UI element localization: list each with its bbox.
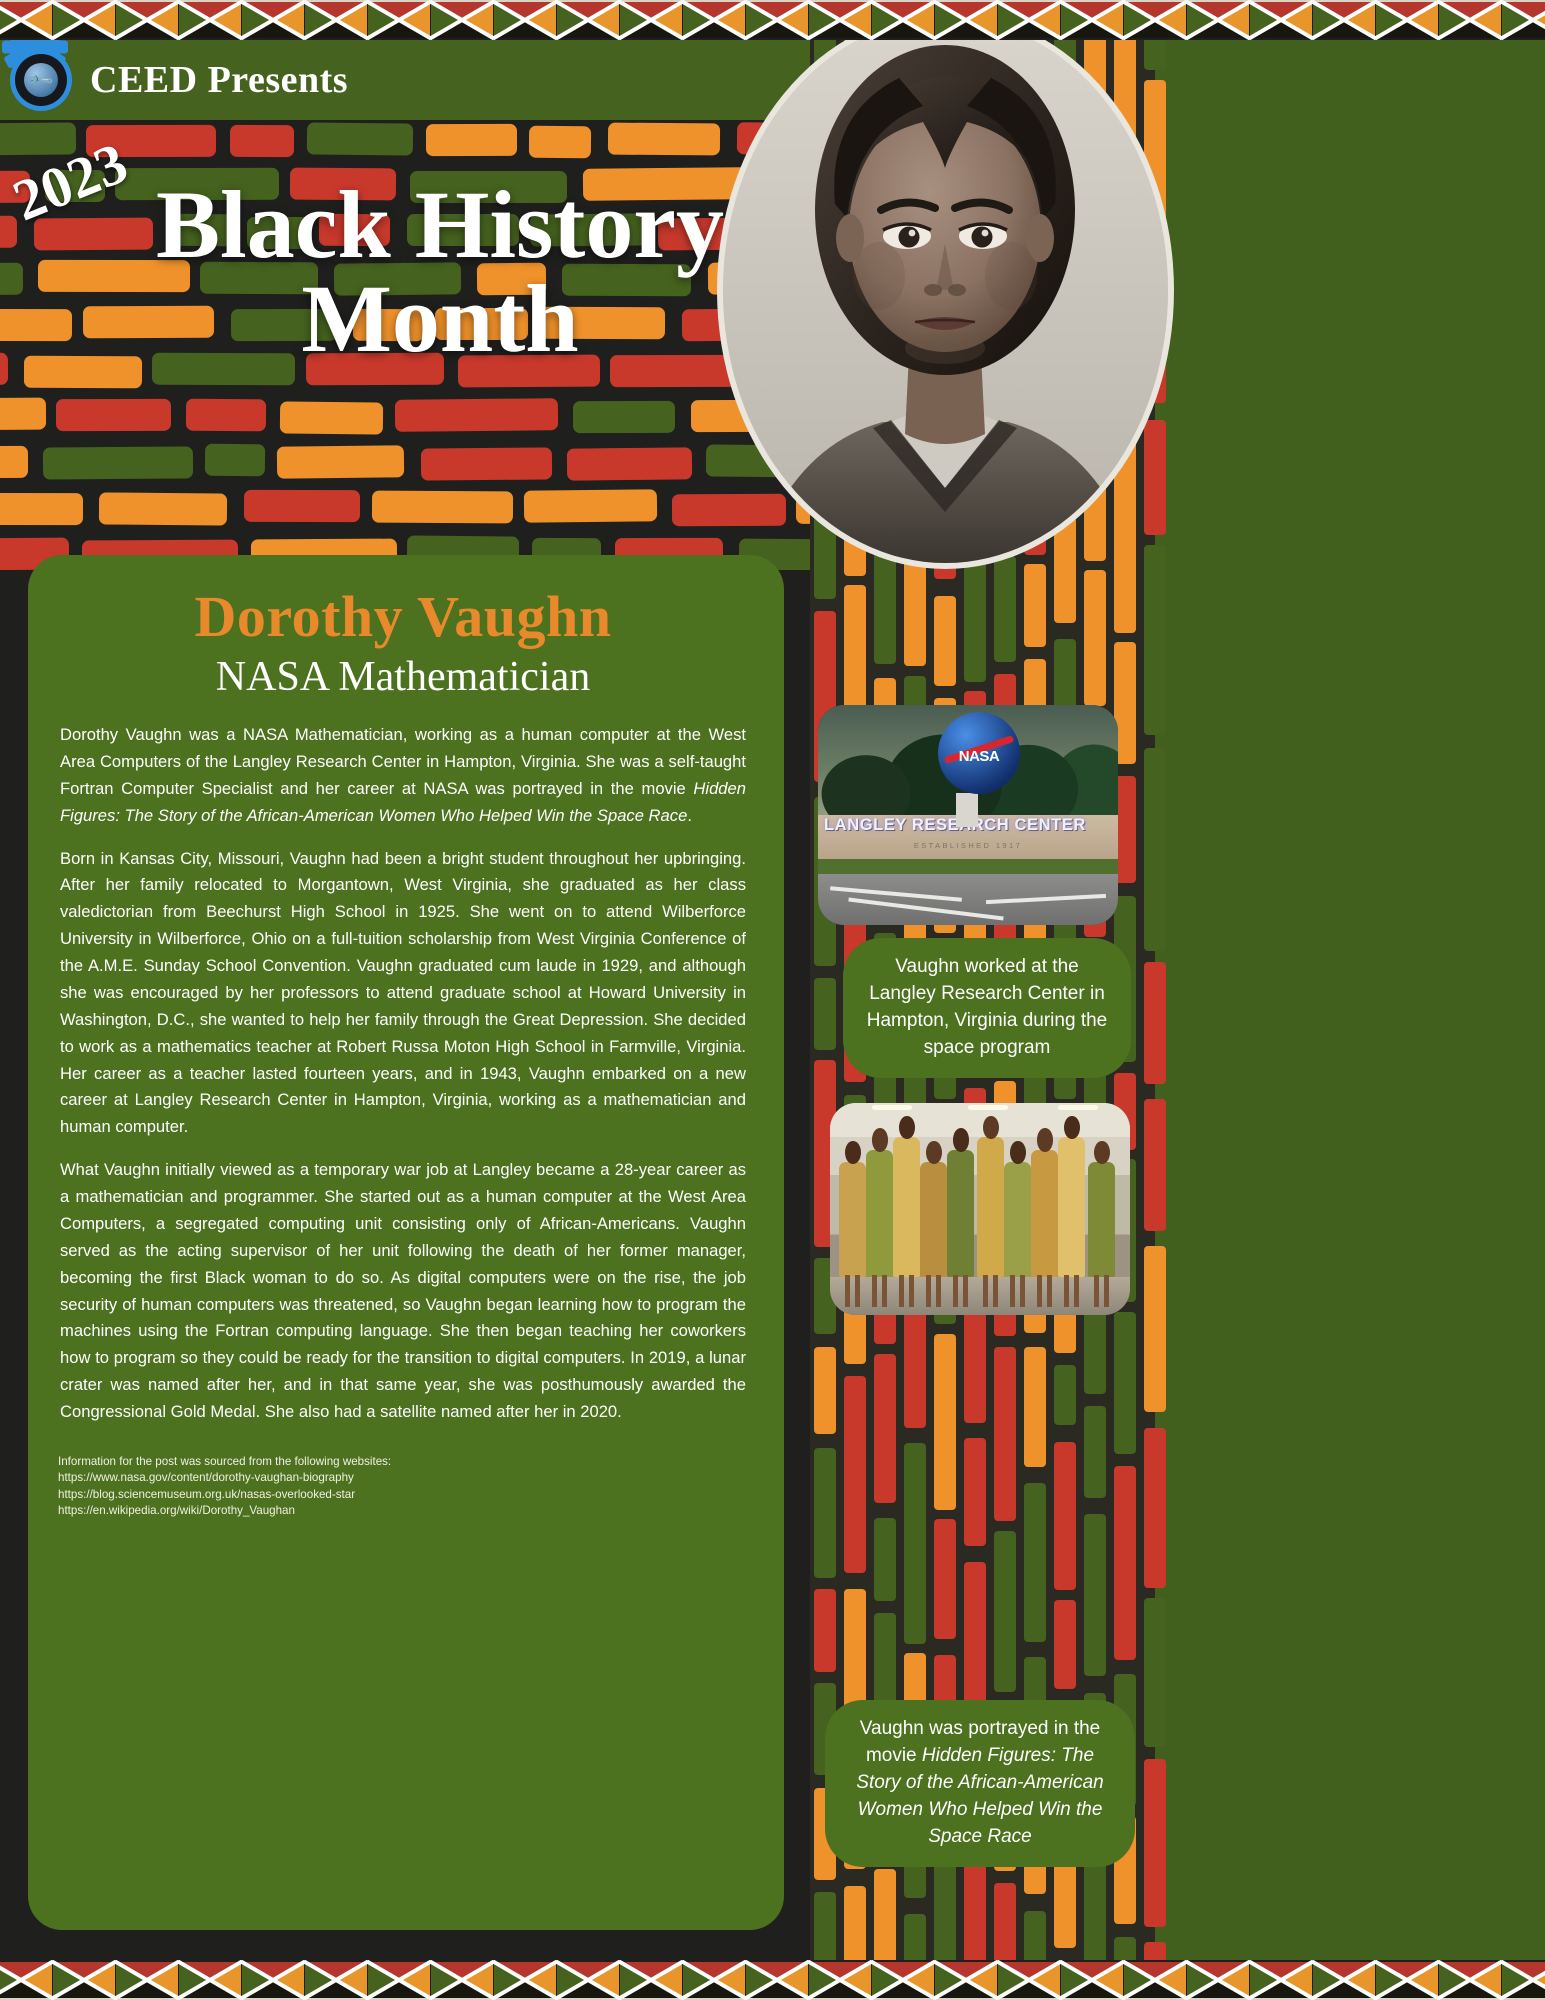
kente-diamond-cell: [1124, 1962, 1186, 1998]
kente-diamond-cell: [1502, 1962, 1545, 1998]
brick-tile: [99, 492, 227, 525]
kente-cross-lines: [746, 1962, 808, 1998]
movie-figure-legs: [963, 1275, 968, 1307]
movie-figure: [1004, 1162, 1031, 1276]
kente-cross-lines: [179, 1962, 241, 1998]
sidebar-stripe-tile: [1144, 420, 1166, 535]
poster-canvas: 🔧 CEED Presents 2023 Black History Month: [0, 0, 1545, 2000]
kente-cross-lines: [1124, 1962, 1186, 1998]
movie-figure-head: [872, 1128, 888, 1151]
sidebar-stripe-tile: [1054, 1442, 1076, 1590]
brick-tile: [56, 399, 171, 431]
kente-diamond-cell: [1439, 1962, 1501, 1998]
brick-tile: [0, 446, 28, 478]
sidebar-stripe-tile: [814, 1589, 836, 1672]
movie-figure-legs: [953, 1275, 958, 1307]
kente-diamond-cell: [1187, 1962, 1249, 1998]
sidebar-stripe-tile: [814, 978, 836, 1050]
para-1: Dorothy Vaughn was a NASA Mathematician,…: [58, 722, 748, 830]
brick-tile: [573, 400, 675, 432]
kente-cross-lines: [305, 1962, 367, 1998]
kente-diamond-cell: [1313, 1962, 1375, 1998]
kente-diamond-cell: [1250, 1962, 1312, 1998]
movie-figure: [920, 1162, 947, 1276]
source-link[interactable]: https://blog.sciencemuseum.org.uk/nasas-…: [58, 1487, 748, 1503]
kente-cross-lines: [116, 1962, 178, 1998]
kente-diamond-cell: [431, 1962, 493, 1998]
person-name: Dorothy Vaughn: [58, 587, 748, 648]
sidebar-stripe-tile: [994, 1347, 1016, 1521]
kente-cross-lines: [998, 1962, 1060, 1998]
text-run: Dorothy Vaughn was a NASA Mathematician,…: [60, 725, 746, 798]
kente-border-bottom: [0, 1960, 1545, 2000]
movie-figure-head: [983, 1116, 999, 1139]
kente-diamond-cell: [746, 1962, 808, 1998]
movie-figure-legs: [926, 1275, 931, 1307]
kente-cross-lines: [1502, 2, 1545, 38]
kente-diamond-cell: [683, 1962, 745, 1998]
person-role: NASA Mathematician: [58, 654, 748, 700]
kente-diamond-cell: [1187, 2, 1249, 38]
kente-cross-lines: [1313, 1962, 1375, 1998]
brick-tile: [395, 398, 558, 432]
brick-tile: [186, 398, 266, 431]
kente-diamond-cell: [116, 1962, 178, 1998]
movie-figure-legs: [983, 1275, 988, 1307]
kente-diamond-cell: [1124, 2, 1186, 38]
sidebar-stripe-tile: [994, 556, 1016, 662]
kente-cross-lines: [53, 1962, 115, 1998]
brick-tile: [307, 123, 413, 156]
sidebar-stripe-tile: [1054, 1365, 1076, 1425]
kente-cross-lines: [1187, 2, 1249, 38]
kente-cross-lines: [0, 1962, 52, 1998]
kente-cross-lines: [683, 2, 745, 38]
kente-cross-lines: [809, 2, 871, 38]
nasa-globe-logo: NASA: [938, 712, 1020, 794]
kente-diamond-cell: [179, 2, 241, 38]
kente-diamond-cell: [53, 1962, 115, 1998]
kente-cross-lines: [1250, 1962, 1312, 1998]
brick-tile: [280, 401, 383, 434]
movie-figure-legs: [1094, 1275, 1099, 1307]
sidebar-stripe-tile: [1144, 748, 1166, 951]
sidebar-stripe-tile: [934, 1334, 956, 1510]
kente-cross-lines: [683, 1962, 745, 1998]
movie-figure: [893, 1137, 920, 1277]
kente-diamond-cell: [0, 1962, 52, 1998]
kente-cross-lines: [1187, 1962, 1249, 1998]
kente-diamond-cell: [368, 1962, 430, 1998]
kente-diamond-cell: [998, 2, 1060, 38]
logo-pedestal: [956, 793, 978, 827]
text-run: What Vaughn initially viewed as a tempor…: [60, 1160, 746, 1421]
sidebar-stripe-tile: [934, 596, 956, 686]
movie-figure: [866, 1150, 893, 1277]
page-title-line-2: Month: [100, 272, 780, 366]
kente-cross-lines: [557, 2, 619, 38]
sidebar-stripe-tile: [844, 1376, 866, 1573]
biography-panel: Dorothy Vaughn NASA Mathematician Doroth…: [28, 555, 784, 1930]
sidebar-stripe-tile: [1024, 1347, 1046, 1467]
brick-tile: [43, 447, 193, 480]
kente-cross-lines: [368, 2, 430, 38]
sidebar-stripe-tile: [1114, 1466, 1136, 1660]
sidebar-stripe-tile: [1084, 570, 1106, 706]
sidebar-stripe-tile: [1144, 1759, 1166, 1927]
kente-cross-lines: [242, 1962, 304, 1998]
sign-subtext: ESTABLISHED 1917: [818, 841, 1118, 850]
kente-diamond-cell: [620, 2, 682, 38]
movie-figure-head: [953, 1128, 969, 1151]
sidebar-stripe-tile: [1084, 1514, 1106, 1676]
movie-figure: [1058, 1137, 1085, 1277]
brick-tile: [230, 125, 294, 157]
movie-figure-head: [845, 1141, 861, 1164]
sidebar-stripe-tile: [904, 1443, 926, 1644]
kente-diamond-cell: [1502, 2, 1545, 38]
kente-diamond-cell: [305, 2, 367, 38]
kente-diamond-cell: [242, 1962, 304, 1998]
sidebar-stripe-tile: [874, 1354, 896, 1503]
grass-strip: [818, 859, 1118, 874]
kente-diamond-cell: [1376, 1962, 1438, 1998]
sidebar-stripe-tile: [964, 550, 986, 682]
kente-diamond-cell: [998, 1962, 1060, 1998]
movie-figure: [1088, 1162, 1115, 1276]
sidebar-stripe-tile: [1144, 962, 1166, 1084]
kente-diamond-cell: [1376, 2, 1438, 38]
kente-diamond-cell: [935, 1962, 997, 1998]
sidebar-stripe-tile: [964, 1438, 986, 1546]
movie-figure-head: [1094, 1141, 1110, 1164]
movie-figure-legs: [882, 1275, 887, 1307]
sidebar-stripe-tile: [874, 1518, 896, 1601]
kente-diamond-cell: [242, 2, 304, 38]
brick-tile: [0, 397, 46, 430]
sidebar-stripe-tile: [1144, 1598, 1166, 1747]
kente-cross-lines: [557, 1962, 619, 1998]
portrait-illustration: [723, 18, 1168, 563]
kente-cross-lines: [1439, 1962, 1501, 1998]
movie-figure: [839, 1162, 866, 1276]
brick-tile: [529, 126, 591, 159]
page-title-line-1: Black History: [100, 178, 780, 272]
movie-figure-head: [899, 1116, 915, 1139]
brick-tile: [0, 353, 8, 385]
brick-tile: [277, 445, 404, 478]
movie-figure-legs: [1047, 1275, 1052, 1307]
kente-cross-lines: [1376, 2, 1438, 38]
kente-diamond-cell: [1061, 1962, 1123, 1998]
para-2: Born in Kansas City, Missouri, Vaughn ha…: [58, 846, 748, 1142]
kente-cross-lines: [494, 2, 556, 38]
movie-figure-legs: [909, 1275, 914, 1307]
sidebar-stripe-tile: [1144, 1246, 1166, 1412]
sidebar-stripe-tile: [1144, 545, 1166, 735]
source-link[interactable]: https://www.nasa.gov/content/dorothy-vau…: [58, 1470, 748, 1486]
kente-cross-lines: [872, 1962, 934, 1998]
kente-cross-lines: [494, 1962, 556, 1998]
movie-figure-head: [1010, 1141, 1026, 1164]
kente-cross-lines: [1376, 1962, 1438, 1998]
sidebar-stripe-tile: [994, 1531, 1016, 1692]
kente-diamond-cell: [494, 2, 556, 38]
sources-block: Information for the post was sourced fro…: [58, 1454, 748, 1520]
brick-tile: [524, 489, 657, 522]
sidebar-stripe-tile: [1054, 1600, 1076, 1689]
kente-diamond-cell: [1061, 2, 1123, 38]
sidebar-stripe-tile: [814, 1347, 836, 1434]
kente-diamond-cell: [179, 1962, 241, 1998]
movie-figure-legs: [1010, 1275, 1015, 1307]
kente-diamond-cell: [368, 2, 430, 38]
brick-tile: [672, 494, 786, 526]
kente-cross-lines: [998, 2, 1060, 38]
kente-diamond-cell: [1439, 2, 1501, 38]
source-link[interactable]: https://en.wikipedia.org/wiki/Dorothy_Va…: [58, 1503, 748, 1519]
movie-figure-head: [1037, 1128, 1053, 1151]
movie-figure-legs: [872, 1275, 877, 1307]
kente-diamond-cell: [683, 2, 745, 38]
kente-cross-lines: [0, 2, 52, 38]
kente-cross-lines: [620, 1962, 682, 1998]
para-3: What Vaughn initially viewed as a tempor…: [58, 1157, 748, 1426]
brick-tile: [608, 123, 720, 156]
movie-figure-legs: [1037, 1275, 1042, 1307]
brick-tile: [0, 216, 17, 249]
sidebar-stripe-tile: [1144, 1099, 1166, 1231]
kente-diamond-cell: [746, 2, 808, 38]
kente-cross-lines: [1313, 2, 1375, 38]
movie-figure-legs: [1074, 1275, 1079, 1307]
text-run: Vaughn worked at the Langley Research Ce…: [867, 956, 1107, 1058]
kente-cross-lines: [1250, 2, 1312, 38]
nasa-logo-text: NASA: [938, 748, 1020, 765]
kente-diamond-cell: [53, 2, 115, 38]
kente-diamond-cell: [0, 2, 52, 38]
brick-tile: [205, 444, 265, 477]
header-bar: 🔧 CEED Presents: [0, 40, 810, 120]
sidebar-stripe-tile: [874, 1613, 896, 1708]
brick-tile: [372, 490, 513, 523]
movie-figure-legs: [1020, 1275, 1025, 1307]
kente-diamond-cell: [872, 1962, 934, 1998]
movie-figure-legs: [899, 1275, 904, 1307]
kente-diamond-cell: [935, 2, 997, 38]
movie-figure-head: [926, 1141, 942, 1164]
sidebar-stripe-tile: [814, 1448, 836, 1578]
kente-cross-lines: [746, 2, 808, 38]
kente-diamond-cell: [557, 2, 619, 38]
sidebar-green-margin: [1155, 0, 1545, 2000]
brick-tile: [0, 493, 83, 525]
kente-diamond-cell: [872, 2, 934, 38]
ceed-gear-wrench-logo: 🔧: [10, 49, 72, 111]
kente-diamond-cell: [620, 1962, 682, 1998]
sidebar-stripe-tile: [934, 1519, 956, 1639]
sidebar-stripe-tile: [1114, 1312, 1136, 1454]
road-region: [818, 874, 1118, 925]
movie-figure: [947, 1150, 974, 1277]
kente-cross-lines: [809, 1962, 871, 1998]
langley-photo-caption: Vaughn worked at the Langley Research Ce…: [843, 938, 1131, 1078]
brick-tile: [0, 309, 72, 341]
kente-diamond-cell: [494, 1962, 556, 1998]
brick-tile: [244, 490, 360, 522]
movie-figure-legs: [1104, 1275, 1109, 1307]
kente-diamond-cell: [431, 2, 493, 38]
kente-cross-lines: [1439, 2, 1501, 38]
kente-cross-lines: [242, 2, 304, 38]
kente-cross-lines: [53, 2, 115, 38]
header-title: CEED Presents: [90, 58, 348, 102]
dorothy-vaughn-portrait-photo: [723, 18, 1168, 563]
kente-border-top: [0, 0, 1545, 40]
kente-diamond-cell: [809, 2, 871, 38]
kente-cross-lines: [116, 2, 178, 38]
kente-diamond-cell: [305, 1962, 367, 1998]
biography-paragraphs: Dorothy Vaughn was a NASA Mathematician,…: [58, 722, 748, 1426]
text-run: Born in Kansas City, Missouri, Vaughn ha…: [60, 849, 746, 1137]
kente-diamond-cell: [116, 2, 178, 38]
kente-diamond-cell: [557, 1962, 619, 1998]
sidebar-stripe-tile: [1024, 1483, 1046, 1642]
movie-figure-legs: [936, 1275, 941, 1307]
kente-diamond-cell: [1250, 2, 1312, 38]
page-title: Black History Month: [100, 178, 780, 366]
brick-tile: [426, 124, 517, 156]
kente-cross-lines: [179, 2, 241, 38]
movie-figure-legs: [845, 1275, 850, 1307]
movie-figure: [977, 1137, 1004, 1277]
kente-cross-lines: [368, 1962, 430, 1998]
sidebar-stripe-tile: [1084, 1406, 1106, 1498]
brick-tile: [421, 448, 552, 481]
movie-figure-legs: [1064, 1275, 1069, 1307]
langley-research-center-sign-photo: NASA LANGLEY RESEARCH CENTER ESTABLISHED…: [818, 705, 1118, 925]
kente-cross-lines: [431, 1962, 493, 1998]
kente-diamond-cell: [1313, 2, 1375, 38]
kente-cross-lines: [1061, 2, 1123, 38]
kente-cross-lines: [1502, 1962, 1545, 1998]
movie-figure-head: [1064, 1116, 1080, 1139]
movie-figure-legs: [993, 1275, 998, 1307]
sidebar-stripe-tile: [1144, 1428, 1166, 1588]
movie-figure-legs: [855, 1275, 860, 1307]
kente-diamond-cell: [809, 1962, 871, 1998]
kente-cross-lines: [305, 2, 367, 38]
text-run: .: [687, 806, 692, 825]
hidden-figures-movie-still-photo: [830, 1103, 1130, 1315]
brick-tile: [0, 263, 23, 296]
kente-cross-lines: [872, 2, 934, 38]
kente-cross-lines: [431, 2, 493, 38]
movie-photo-caption: Vaughn was portrayed in the movie Hidden…: [825, 1700, 1135, 1867]
kente-cross-lines: [935, 2, 997, 38]
movie-figure: [1031, 1150, 1058, 1277]
kente-cross-lines: [1061, 1962, 1123, 1998]
kente-cross-lines: [935, 1962, 997, 1998]
sidebar-stripe-tile: [1024, 564, 1046, 647]
source-links-list: https://www.nasa.gov/content/dorothy-vau…: [58, 1470, 748, 1519]
kente-cross-lines: [620, 2, 682, 38]
kente-cross-lines: [1124, 2, 1186, 38]
sources-intro: Information for the post was sourced fro…: [58, 1454, 748, 1470]
sidebar-stripe-tile: [1054, 517, 1076, 623]
brick-tile: [567, 448, 692, 481]
